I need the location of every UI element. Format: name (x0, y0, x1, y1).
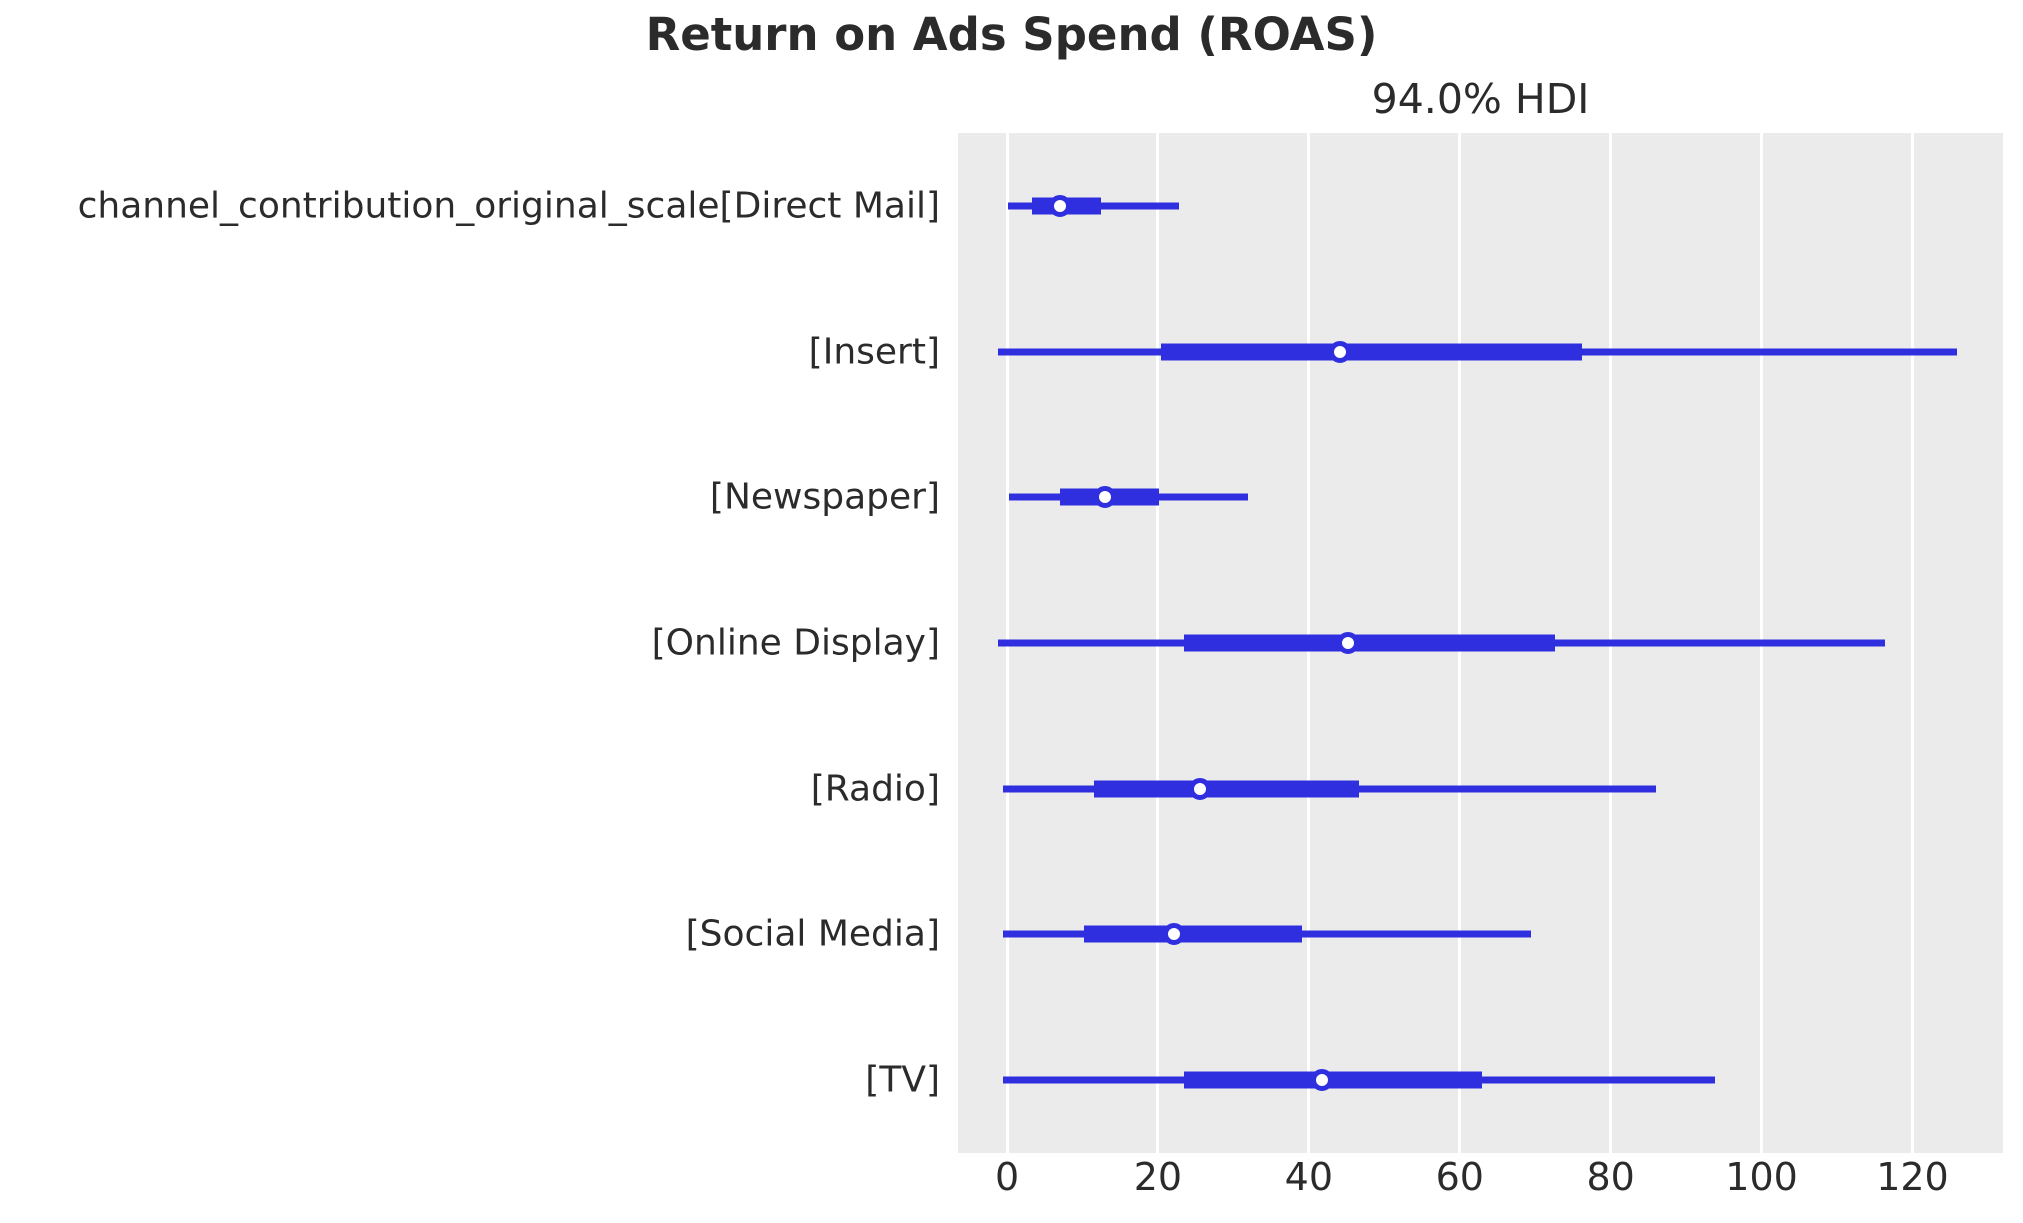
point-estimate-marker (1189, 778, 1211, 800)
point-estimate-marker (1094, 486, 1116, 508)
hdi-inner-interval (1084, 926, 1302, 943)
hdi-inner-interval (1161, 343, 1582, 360)
hdi-inner-interval (1094, 780, 1360, 797)
y-axis-tick-labels: channel_contribution_original_scale[Dire… (0, 133, 958, 1153)
point-estimate-marker (1329, 341, 1351, 363)
x-axis-tick-80: 80 (1586, 1155, 1634, 1199)
point-estimate-marker (1337, 632, 1359, 654)
x-axis-tick-0: 0 (995, 1155, 1019, 1199)
x-axis-tick-100: 100 (1725, 1155, 1798, 1199)
y-axis-label: [TV] (865, 1060, 958, 1101)
point-estimate-marker (1311, 1069, 1333, 1091)
point-estimate-marker (1049, 195, 1071, 217)
gridline-x-120 (1911, 133, 1914, 1153)
y-axis-label: [Newspaper] (710, 477, 958, 518)
forest-plot-figure: Return on Ads Spend (ROAS) 94.0% HDI cha… (0, 0, 2023, 1223)
y-axis-label: [Radio] (811, 768, 958, 809)
x-axis-tick-labels: 020406080100120 (958, 1153, 2003, 1223)
x-axis-tick-20: 20 (1134, 1155, 1182, 1199)
chart-subtitle: 94.0% HDI (958, 75, 2003, 123)
hdi-inner-interval (1184, 635, 1555, 652)
y-axis-label: [Online Display] (652, 623, 958, 664)
x-axis-tick-40: 40 (1285, 1155, 1333, 1199)
y-axis-label: [Social Media] (686, 914, 958, 955)
point-estimate-marker (1163, 923, 1185, 945)
x-axis-tick-120: 120 (1876, 1155, 1949, 1199)
y-axis-label: channel_contribution_original_scale[Dire… (78, 185, 958, 226)
page-title: Return on Ads Spend (ROAS) (0, 8, 2023, 61)
y-axis-label: [Insert] (809, 331, 958, 372)
x-axis-tick-60: 60 (1436, 1155, 1484, 1199)
plot-area (958, 133, 2003, 1153)
